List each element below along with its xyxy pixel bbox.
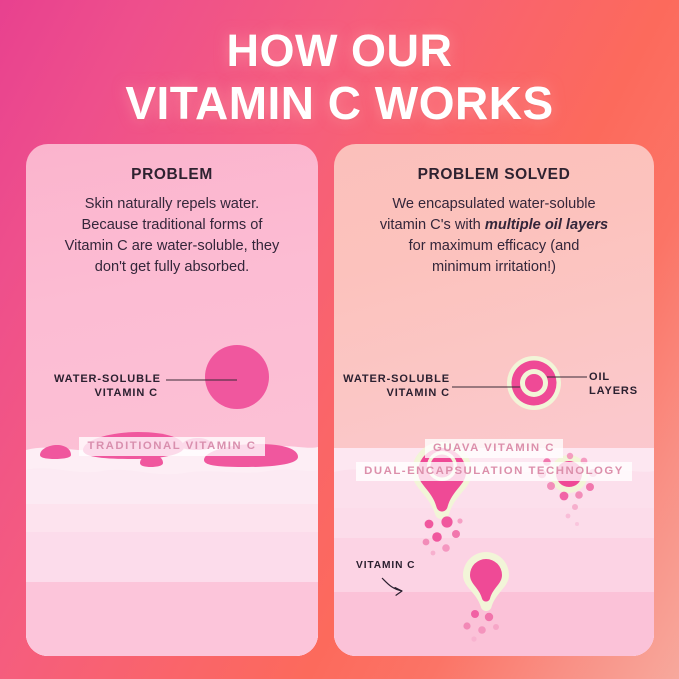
solved-body-line-2: vitamin C's with multiple oil layers (348, 215, 640, 236)
problem-body-line-3: Vitamin C are water-soluble, they (40, 236, 304, 257)
solved-body-line-2-plain: vitamin C's with (380, 217, 485, 233)
problem-body-line-4: don't get fully absorbed. (40, 257, 304, 278)
panel-problem-badges: TRADITIONAL VITAMIN C (26, 436, 318, 459)
vitamin-c-particles-main (423, 516, 463, 555)
title-line-1: HOW OUR (0, 24, 679, 77)
panel-problem-solved-body: We encapsulated water-soluble vitamin C'… (348, 194, 640, 278)
panel-problem-solved-title: PROBLEM SOLVED (348, 166, 640, 184)
page-title: HOW OUR VITAMIN C WORKS (0, 24, 679, 130)
panel-problem-solved-head: PROBLEM SOLVED We encapsulated water-sol… (334, 144, 654, 278)
label-line-1: VITAMIN C (356, 559, 415, 573)
label-water-soluble-vitamin-c-left: WATER-SOLUBLE VITAMIN C (54, 372, 158, 400)
label-water-soluble-vitamin-c-right: WATER-SOLUBLE VITAMIN C (340, 372, 450, 400)
badge-traditional-vitamin-c: TRADITIONAL VITAMIN C (79, 437, 264, 456)
infographic-canvas: HOW OUR VITAMIN C WORKS (0, 0, 679, 679)
label-oil-layers: OIL LAYERS (589, 370, 638, 398)
vitamin-c-arrow (382, 578, 402, 595)
panel-problem-solved-badges: GUAVA VITAMIN C DUAL-ENCAPSULATION TECHN… (334, 438, 654, 484)
solved-body-emphasis: multiple oil layers (485, 217, 608, 233)
badge-dual-encapsulation-technology: DUAL-ENCAPSULATION TECHNOLOGY (356, 462, 632, 481)
problem-body-line-1: Skin naturally repels water. (40, 194, 304, 215)
solved-body-line-4: minimum irritation!) (348, 257, 640, 278)
label-line-1: OIL (589, 370, 638, 384)
badge-guava-vitamin-c: GUAVA VITAMIN C (425, 439, 563, 458)
particles-small-bottom (463, 610, 499, 642)
panel-problem-solved: PROBLEM SOLVED We encapsulated water-sol… (334, 144, 654, 656)
label-line-2: VITAMIN C (54, 386, 158, 400)
panel-problem: PROBLEM Skin naturally repels water. Bec… (26, 144, 318, 656)
solved-body-line-1: We encapsulated water-soluble (348, 194, 640, 215)
label-line-2: LAYERS (589, 384, 638, 398)
panel-problem-head: PROBLEM Skin naturally repels water. Bec… (26, 144, 318, 278)
label-line-2: VITAMIN C (340, 386, 450, 400)
capsule-small-bottom (463, 552, 509, 611)
label-line-1: WATER-SOLUBLE (340, 372, 450, 386)
title-line-2: VITAMIN C WORKS (0, 77, 679, 130)
label-line-1: WATER-SOLUBLE (54, 372, 158, 386)
problem-body-line-2: Because traditional forms of (40, 215, 304, 236)
solved-body-line-3: for maximum efficacy (and (348, 236, 640, 257)
capsule-target-top (507, 356, 561, 410)
label-vitamin-c: VITAMIN C (356, 559, 415, 573)
water-soluble-vitamin-c-blob (205, 345, 269, 409)
panel-problem-body: Skin naturally repels water. Because tra… (40, 194, 304, 278)
panel-problem-title: PROBLEM (40, 166, 304, 184)
